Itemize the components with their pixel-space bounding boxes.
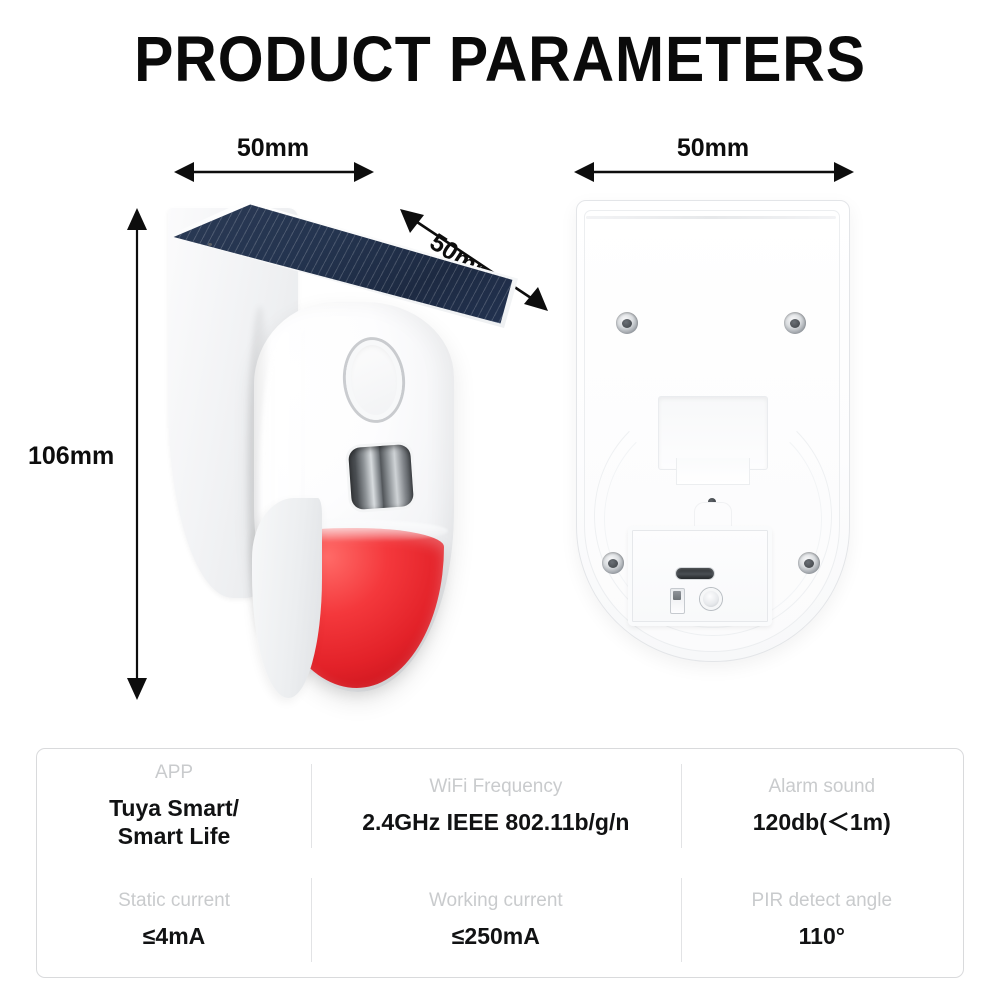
dimension-arrow-right-width: [574, 158, 854, 186]
spec-label: Alarm sound: [768, 776, 875, 798]
dimension-arrow-left-width: [174, 158, 374, 186]
spec-cell-working-current: Working current ≤250mA: [311, 863, 680, 977]
spec-row: APP Tuya Smart/Smart Life WiFi Frequency…: [37, 749, 963, 863]
spec-label: PIR detect angle: [752, 890, 892, 912]
spec-table: APP Tuya Smart/Smart Life WiFi Frequency…: [36, 748, 964, 978]
spec-value: ≤4mA: [143, 922, 205, 950]
back-plate-top-rib: [586, 216, 836, 219]
spec-value: 2.4GHz IEEE 802.11b/g/n: [362, 808, 629, 836]
screw-hole: [602, 552, 624, 574]
spec-label: WiFi Frequency: [429, 776, 562, 798]
reset-button: [700, 588, 722, 610]
product-illustration-area: 50mm 106mm 50mm 50mm: [0, 0, 1000, 740]
spec-cell-pir-detect-angle: PIR detect angle 110°: [681, 863, 963, 977]
spec-value: ≤250mA: [452, 922, 540, 950]
spec-value: 110°: [799, 922, 845, 950]
port-cover-tab: [694, 502, 732, 529]
spec-row: Static current ≤4mA Working current ≤250…: [37, 863, 963, 977]
spec-value: Tuya Smart/Smart Life: [109, 794, 239, 850]
spec-label: APP: [155, 762, 193, 784]
screw-hole: [616, 312, 638, 334]
solar-alarm-front-view: [160, 198, 500, 698]
spec-value: 120db(＜1m): [753, 808, 891, 836]
dimension-arrow-left-height: [123, 208, 151, 700]
spec-cell-wifi-frequency: WiFi Frequency 2.4GHz IEEE 802.11b/g/n: [311, 749, 680, 863]
light-sensor-dot: [208, 243, 212, 246]
spec-label: Static current: [118, 890, 230, 912]
screw-hole: [798, 552, 820, 574]
solar-alarm-back-view: [576, 200, 856, 670]
spec-cell-alarm-sound: Alarm sound 120db(＜1m): [681, 749, 963, 863]
usb-c-port: [676, 568, 714, 579]
pir-sensor-window: [348, 444, 414, 510]
power-switch: [670, 588, 685, 614]
mount-bracket-notch: [676, 458, 750, 485]
spec-cell-app: APP Tuya Smart/Smart Life: [37, 749, 311, 863]
spec-label: Working current: [429, 890, 563, 912]
screw-hole: [784, 312, 806, 334]
dimension-label-left-height: 106mm: [28, 442, 114, 471]
spec-cell-static-current: Static current ≤4mA: [37, 863, 311, 977]
